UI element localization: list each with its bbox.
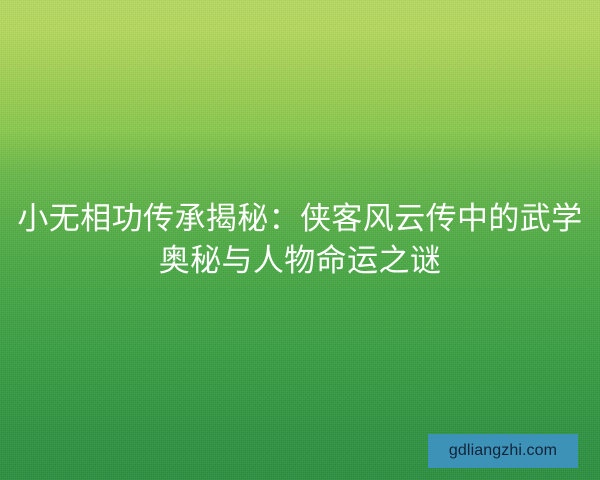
title-line-1: 小无相功传承揭秘：侠客风云传中的武学 <box>14 198 586 240</box>
cover-title: 小无相功传承揭秘：侠客风云传中的武学 奥秘与人物命运之谜 <box>0 198 600 282</box>
watermark-site-label: gdliangzhi.com <box>449 443 557 459</box>
watermark-badge: gdliangzhi.com <box>428 434 578 468</box>
cover-image-canvas: 小无相功传承揭秘：侠客风云传中的武学 奥秘与人物命运之谜 gdliangzhi.… <box>0 0 600 480</box>
title-line-2: 奥秘与人物命运之谜 <box>14 240 586 282</box>
